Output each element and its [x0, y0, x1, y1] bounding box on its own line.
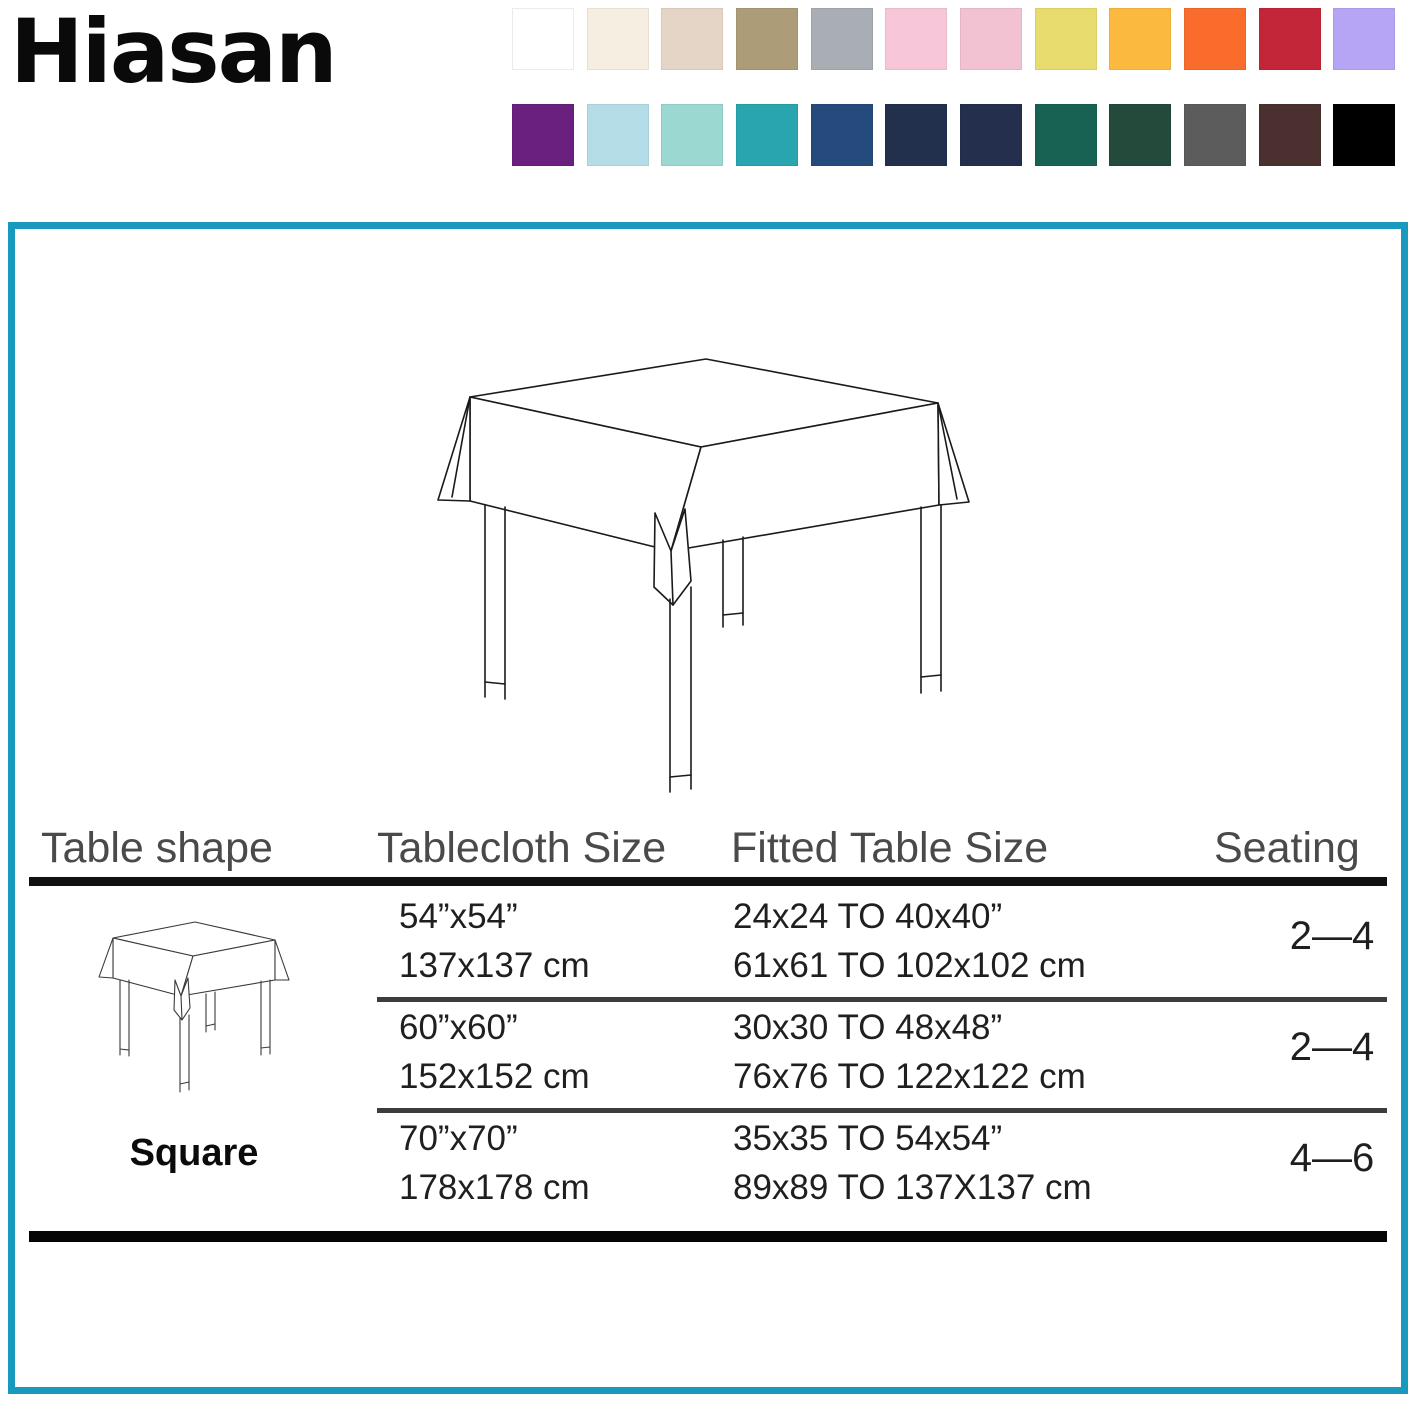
header: Hiasan [0, 0, 1416, 185]
color-swatch-grid [512, 8, 1408, 168]
size-chart-page: Hiasan [0, 0, 1416, 1402]
row-divider-rule [377, 997, 1387, 1002]
cloth-size-inches: 70”x70” [399, 1119, 518, 1158]
swatch-cell[interactable] [587, 104, 662, 168]
fitted-size-cm: 61x61 TO 102x102 cm [733, 941, 1086, 990]
swatch-teal[interactable] [736, 104, 798, 166]
swatch-cell[interactable] [1109, 8, 1184, 72]
cell-tablecloth-size: 70”x70” 178x178 cm [399, 1114, 590, 1212]
cell-fitted-table-size: 24x24 TO 40x40” 61x61 TO 102x102 cm [733, 892, 1086, 990]
swatch-dark-green[interactable] [1109, 104, 1171, 166]
swatch-cell[interactable] [1333, 104, 1408, 168]
swatch-cell[interactable] [587, 8, 662, 72]
swatch-cell[interactable] [960, 8, 1035, 72]
header-divider-rule [29, 877, 1387, 886]
table-row: 54”x54” 137x137 cm 24x24 TO 40x40” 61x61… [377, 886, 1387, 997]
table-row: 70”x70” 178x178 cm 35x35 TO 54x54” 89x89… [377, 1108, 1387, 1219]
size-table: Table shape Tablecloth Size Fitted Table… [29, 807, 1387, 1242]
table-body: Square 54”x54” 137x137 cm 24x24 TO 40x40… [29, 886, 1387, 1219]
swatch-cell[interactable] [736, 104, 811, 168]
table-shape-label: Square [130, 1132, 259, 1175]
brand-logo: Hiasan [10, 8, 336, 96]
swatch-black[interactable] [1333, 104, 1395, 166]
swatch-cell[interactable] [1184, 8, 1259, 72]
swatch-navy-blue[interactable] [811, 104, 873, 166]
content-panel: Table shape Tablecloth Size Fitted Table… [8, 222, 1408, 1394]
swatch-cell[interactable] [1259, 104, 1334, 168]
column-header-seating: Seating [1214, 824, 1360, 873]
swatch-cell[interactable] [1035, 8, 1110, 72]
swatch-charcoal-gray[interactable] [1184, 104, 1246, 166]
swatch-cell[interactable] [960, 104, 1035, 168]
cloth-size-inches: 60”x60” [399, 1008, 518, 1047]
square-table-illustration [423, 337, 983, 807]
swatch-red[interactable] [1259, 8, 1321, 70]
cloth-size-cm: 137x137 cm [399, 941, 590, 990]
fitted-size-inches: 35x35 TO 54x54” [733, 1119, 1002, 1158]
square-table-icon [89, 910, 299, 1110]
swatch-brown[interactable] [1259, 104, 1321, 166]
swatch-yellow[interactable] [1035, 8, 1097, 70]
swatch-aqua[interactable] [661, 104, 723, 166]
cell-fitted-table-size: 35x35 TO 54x54” 89x89 TO 137X137 cm [733, 1114, 1092, 1212]
column-header-table-shape: Table shape [41, 824, 273, 873]
swatch-cell[interactable] [811, 8, 886, 72]
swatch-midnight-navy[interactable] [960, 104, 1022, 166]
fitted-size-cm: 76x76 TO 122x122 cm [733, 1052, 1086, 1101]
table-rows: 54”x54” 137x137 cm 24x24 TO 40x40” 61x61… [377, 886, 1387, 1219]
cell-tablecloth-size: 60”x60” 152x152 cm [399, 1003, 590, 1101]
swatch-beige[interactable] [661, 8, 723, 70]
swatch-cell[interactable] [1259, 8, 1334, 72]
swatch-pink[interactable] [960, 8, 1022, 70]
swatch-orange[interactable] [1184, 8, 1246, 70]
table-bottom-rule [29, 1231, 1387, 1242]
cloth-size-cm: 152x152 cm [399, 1052, 590, 1101]
cell-seating: 4—6 [1237, 1136, 1416, 1181]
table-shape-cell: Square [29, 886, 359, 1226]
swatch-cell[interactable] [661, 104, 736, 168]
swatch-cell[interactable] [885, 8, 960, 72]
swatch-row-2 [512, 104, 1408, 168]
swatch-row-1 [512, 8, 1408, 72]
swatch-dark-navy[interactable] [885, 104, 947, 166]
fitted-size-inches: 30x30 TO 48x48” [733, 1008, 1002, 1047]
swatch-emerald-green[interactable] [1035, 104, 1097, 166]
swatch-golden-yellow[interactable] [1109, 8, 1171, 70]
swatch-gray[interactable] [811, 8, 873, 70]
table-row: 60”x60” 152x152 cm 30x30 TO 48x48” 76x76… [377, 997, 1387, 1108]
swatch-taupe[interactable] [736, 8, 798, 70]
column-header-fitted-table-size: Fitted Table Size [731, 824, 1048, 873]
swatch-cell[interactable] [1333, 8, 1408, 72]
swatch-cell[interactable] [811, 104, 886, 168]
cell-fitted-table-size: 30x30 TO 48x48” 76x76 TO 122x122 cm [733, 1003, 1086, 1101]
swatch-light-blue[interactable] [587, 104, 649, 166]
swatch-cell[interactable] [512, 104, 587, 168]
cloth-size-cm: 178x178 cm [399, 1163, 590, 1212]
swatch-cell[interactable] [885, 104, 960, 168]
swatch-cell[interactable] [736, 8, 811, 72]
swatch-cream[interactable] [587, 8, 649, 70]
swatch-cell[interactable] [1184, 104, 1259, 168]
fitted-size-cm: 89x89 TO 137X137 cm [733, 1163, 1092, 1212]
swatch-cell[interactable] [512, 8, 587, 72]
swatch-cell[interactable] [661, 8, 736, 72]
row-divider-rule [377, 1108, 1387, 1113]
cell-seating: 2—4 [1237, 914, 1416, 959]
swatch-white[interactable] [512, 8, 574, 70]
swatch-cell[interactable] [1035, 104, 1110, 168]
swatch-cell[interactable] [1109, 104, 1184, 168]
cell-seating: 2—4 [1237, 1025, 1416, 1070]
swatch-light-pink[interactable] [885, 8, 947, 70]
cloth-size-inches: 54”x54” [399, 897, 518, 936]
cell-tablecloth-size: 54”x54” 137x137 cm [399, 892, 590, 990]
swatch-lavender[interactable] [1333, 8, 1395, 70]
column-header-tablecloth-size: Tablecloth Size [377, 824, 666, 873]
fitted-size-inches: 24x24 TO 40x40” [733, 897, 1002, 936]
swatch-purple[interactable] [512, 104, 574, 166]
table-header-row: Table shape Tablecloth Size Fitted Table… [29, 807, 1387, 877]
